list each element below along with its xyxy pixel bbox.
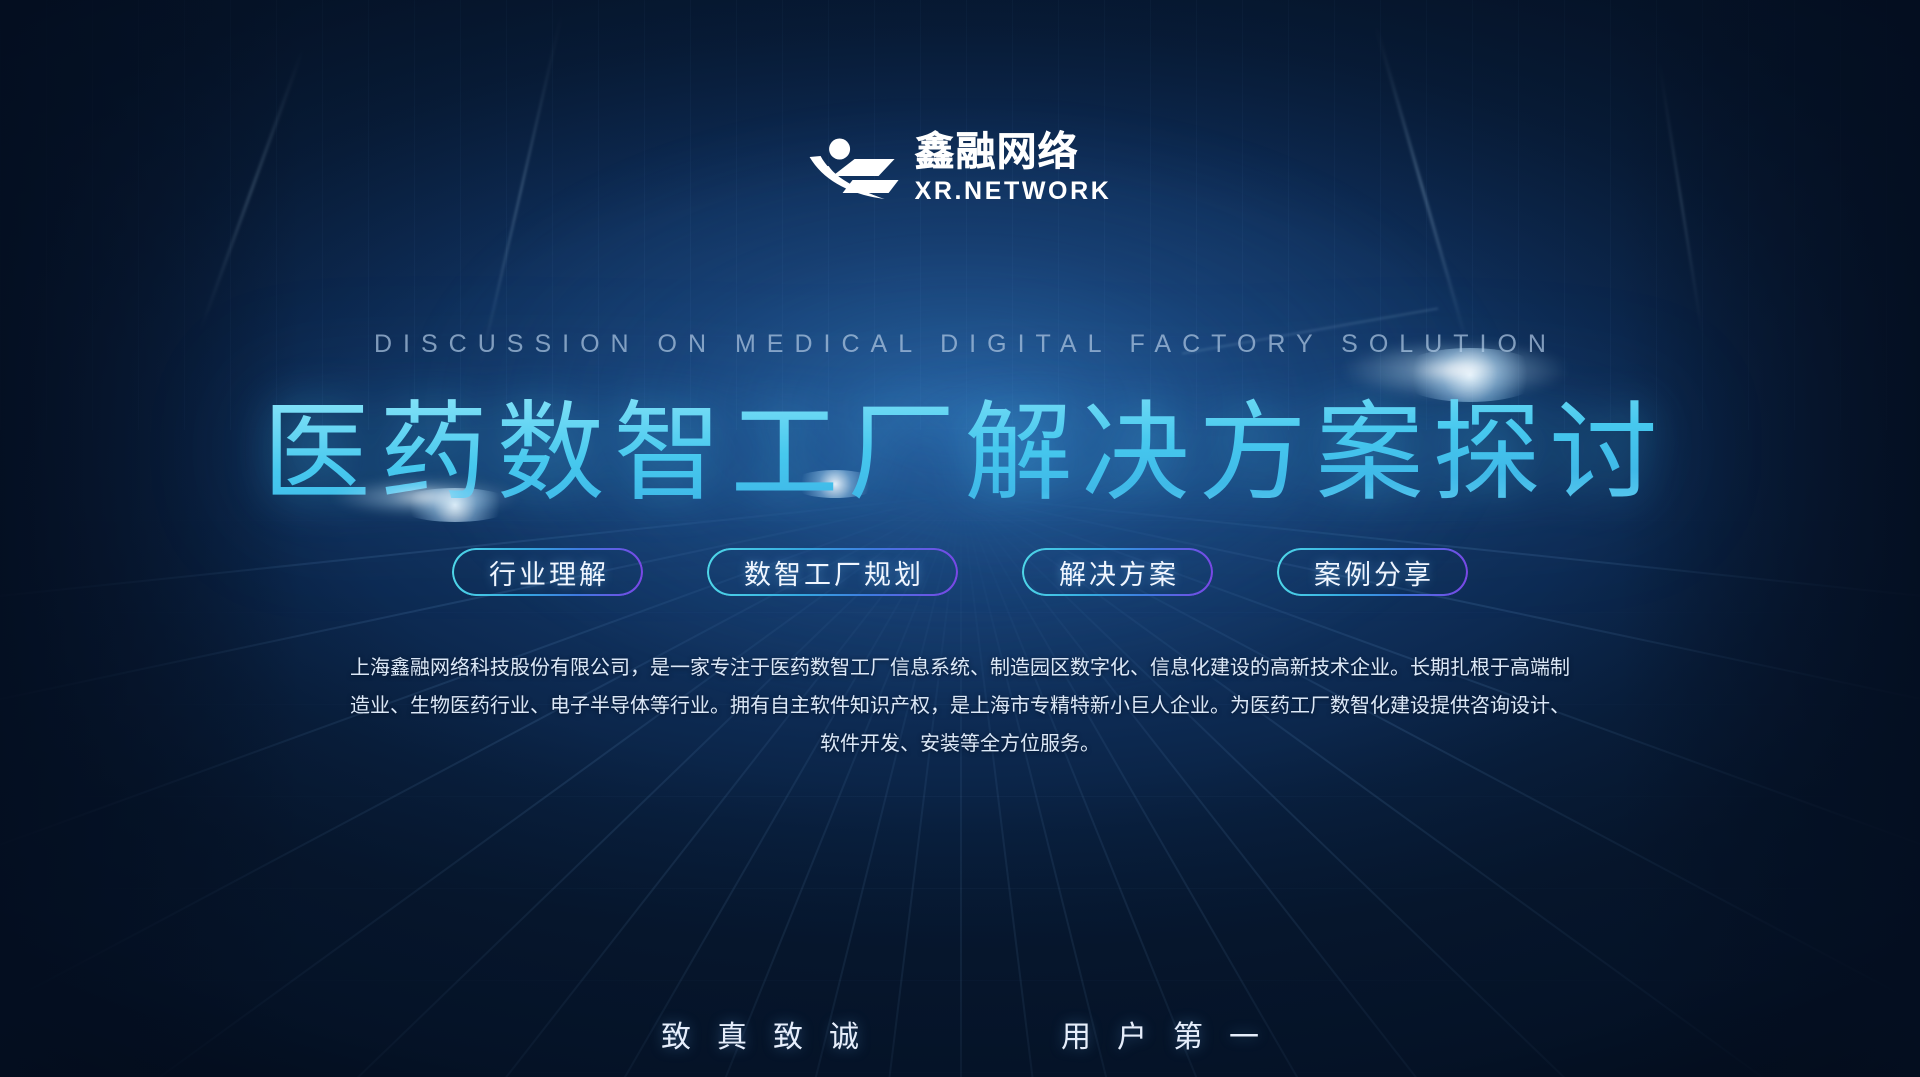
topic-pill-case-sharing[interactable]: 案例分享	[1277, 548, 1468, 596]
intro-line: 造业、生物医药行业、电子半导体等行业。拥有自主软件知识产权，是上海市专精特新小巨…	[260, 686, 1660, 724]
topic-pill-label: 行业理解	[486, 553, 609, 592]
presentation-slide: 鑫融网络 XR.NETWORK DISCUSSION ON MEDICAL DI…	[0, 0, 1920, 1077]
intro-line: 上海鑫融网络科技股份有限公司，是一家专注于医药数智工厂信息系统、制造园区数字化、…	[260, 648, 1660, 686]
brand-name-en: XR.NETWORK	[915, 179, 1112, 204]
topic-pill-label: 解决方案	[1056, 553, 1179, 592]
company-intro-paragraph: 上海鑫融网络科技股份有限公司，是一家专注于医药数智工厂信息系统、制造园区数字化、…	[260, 648, 1660, 762]
intro-line: 软件开发、安装等全方位服务。	[260, 724, 1660, 762]
hero-eyebrow: DISCUSSION ON MEDICAL DIGITAL FACTORY SO…	[0, 330, 1920, 359]
topic-pill-label: 数智工厂规划	[741, 553, 924, 592]
topic-pill-industry-understanding[interactable]: 行业理解	[452, 548, 643, 596]
brand-logo[interactable]: 鑫融网络 XR.NETWORK	[809, 132, 1112, 204]
brand-logo-text: 鑫融网络 XR.NETWORK	[915, 132, 1112, 204]
topic-pill-group: 行业理解 数智工厂规划 解决方案 案例分享	[0, 548, 1920, 596]
page-title: 医药数智工厂解决方案探讨	[0, 366, 1920, 522]
footer-slogan-right: 用户第一	[1035, 1012, 1285, 1056]
topic-pill-label: 案例分享	[1311, 553, 1434, 592]
topic-pill-solution[interactable]: 解决方案	[1022, 548, 1213, 596]
footer-slogan-left: 致真致诚	[635, 1012, 885, 1056]
brand-name-cn: 鑫融网络	[915, 132, 1079, 172]
slide-footer: 致真致诚 用户第一	[0, 1012, 1920, 1056]
topic-pill-factory-planning[interactable]: 数智工厂规划	[707, 548, 958, 596]
wave-boat-logo-icon	[809, 135, 901, 201]
